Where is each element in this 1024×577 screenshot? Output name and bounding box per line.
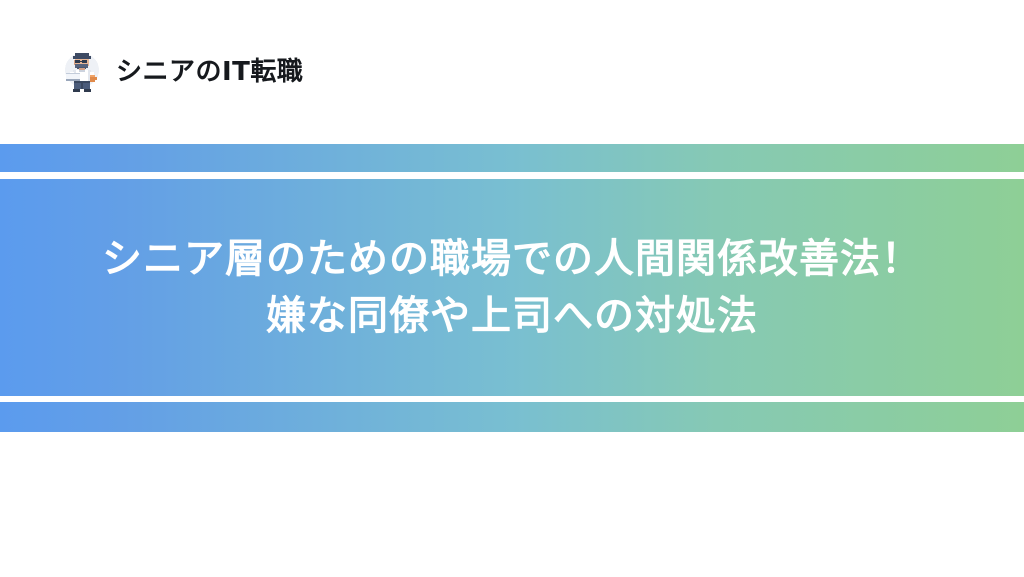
site-header: シニアのIT転職: [0, 0, 1024, 144]
hero-title-line-2: 嫌な同僚や上司への対処法: [40, 288, 984, 345]
senior-engineer-avatar-icon: [58, 48, 106, 96]
page-content-area: [0, 432, 1024, 577]
brand-title: シニアのIT転職: [116, 59, 303, 85]
hero-title-line-1: シニア層のための職場での人間関係改善法！: [40, 231, 984, 288]
hero-banner: シニア層のための職場での人間関係改善法！ 嫌な同僚や上司への対処法: [0, 179, 1024, 396]
brand-link[interactable]: シニアのIT転職: [58, 48, 303, 96]
hero-accent-bar-top: [0, 144, 1024, 172]
hero-title: シニア層のための職場での人間関係改善法！ 嫌な同僚や上司への対処法: [0, 231, 1024, 345]
hero-accent-bar-bottom: [0, 402, 1024, 432]
